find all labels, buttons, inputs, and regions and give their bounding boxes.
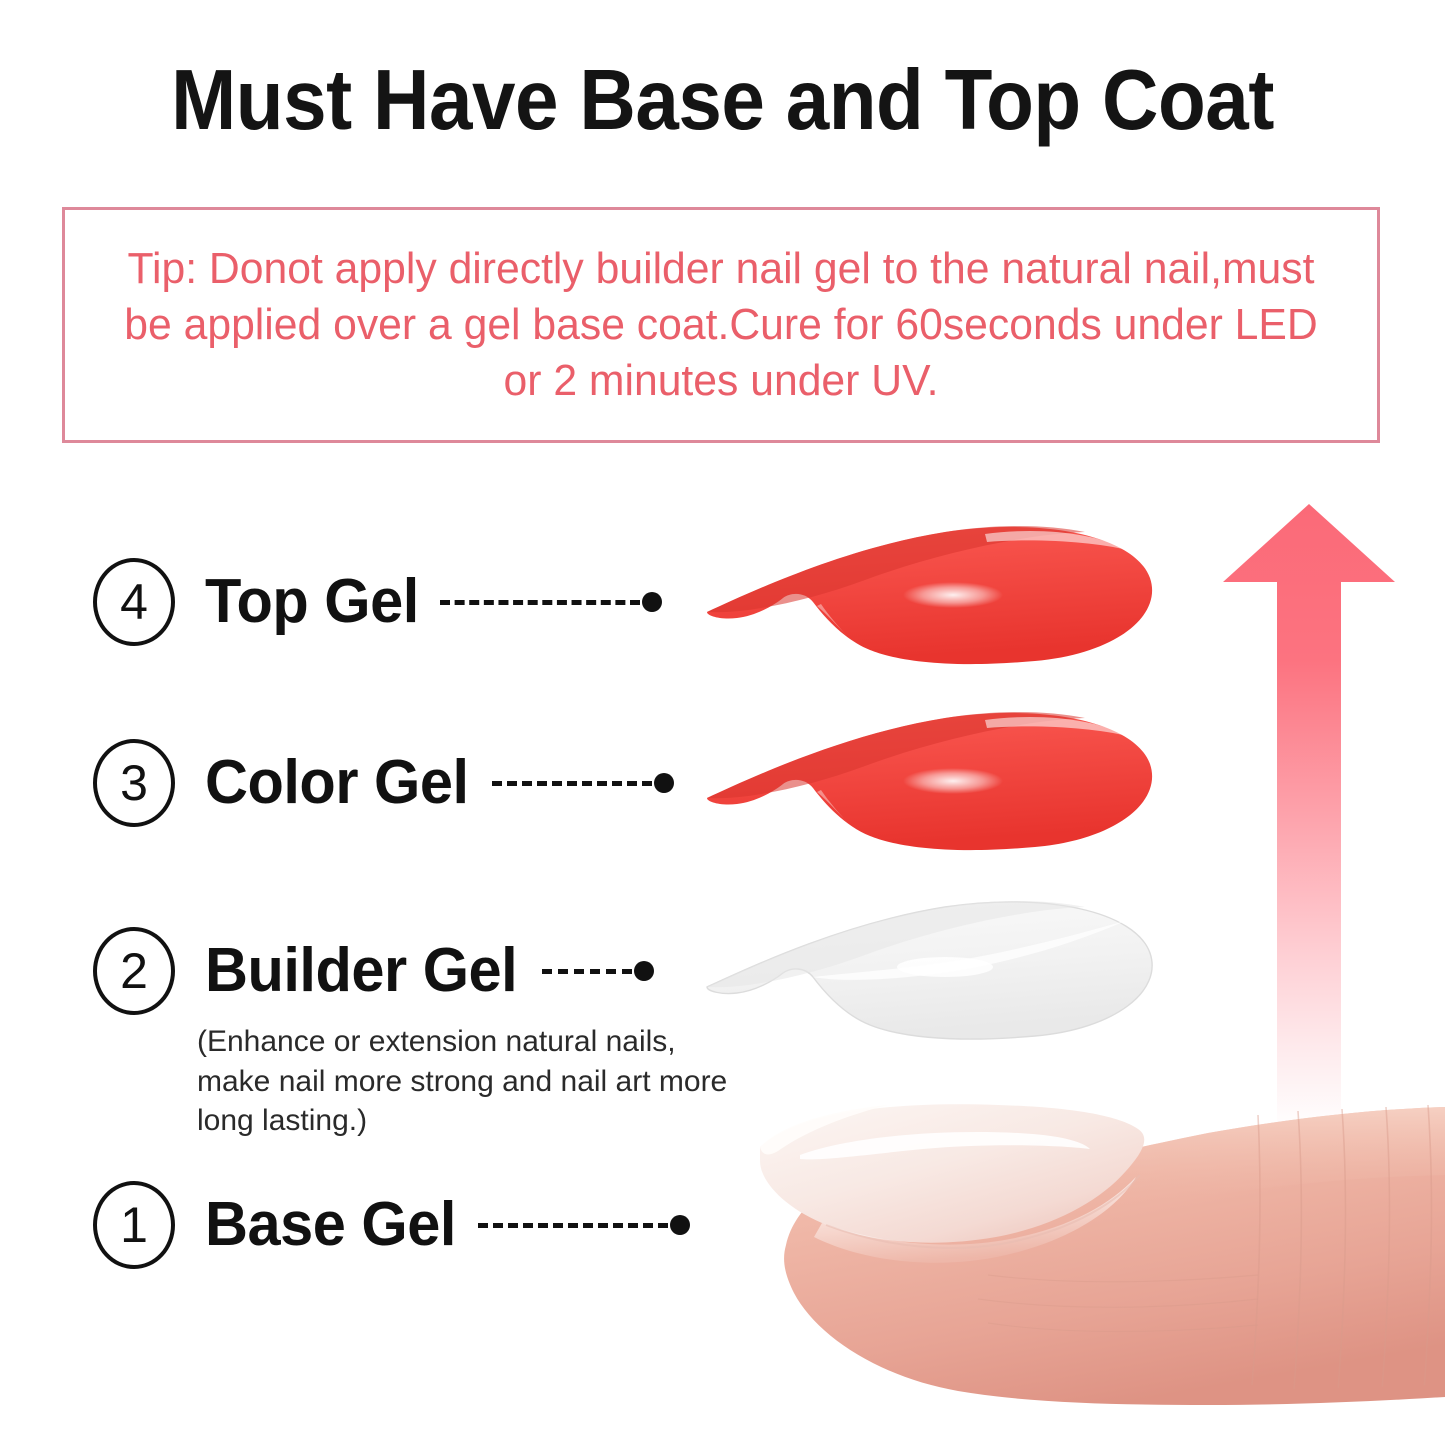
- page-title: Must Have Base and Top Coat: [58, 52, 1387, 150]
- dashed-line-icon: [492, 781, 652, 786]
- leader-connector: [492, 773, 674, 793]
- builder-gel-note: (Enhance or extension natural nails, mak…: [197, 1022, 757, 1141]
- dot-icon: [654, 773, 674, 793]
- step-number-badge: 1: [93, 1181, 175, 1269]
- dashed-line-icon: [542, 969, 632, 974]
- builder-gel-swatch: [695, 895, 1165, 1065]
- step-number-badge: 4: [93, 558, 175, 646]
- finger-with-natural-nail-image: [738, 1085, 1445, 1445]
- upward-arrow-icon: [1221, 500, 1397, 1130]
- step-number-badge: 3: [93, 739, 175, 827]
- dot-icon: [634, 961, 654, 981]
- step-label: Color Gel: [205, 752, 469, 814]
- step-row-base-gel: 1 Base Gel: [93, 1179, 690, 1271]
- tip-text: Tip: Donot apply directly builder nail g…: [85, 241, 1358, 410]
- leader-connector: [440, 592, 662, 612]
- tip-box: Tip: Donot apply directly builder nail g…: [62, 207, 1380, 443]
- leader-connector: [542, 961, 654, 981]
- step-row-color-gel: 3 Color Gel: [93, 737, 674, 829]
- step-label: Top Gel: [205, 571, 419, 633]
- step-row-top-gel: 4 Top Gel: [93, 556, 662, 648]
- dot-icon: [642, 592, 662, 612]
- dot-icon: [670, 1215, 690, 1235]
- step-label: Builder Gel: [205, 940, 517, 1002]
- dashed-line-icon: [478, 1223, 668, 1228]
- leader-connector: [478, 1215, 690, 1235]
- step-number-badge: 2: [93, 927, 175, 1015]
- step-label: Base Gel: [205, 1194, 456, 1256]
- infographic-page: Must Have Base and Top Coat Tip: Donot a…: [0, 0, 1445, 1445]
- color-gel-swatch: [695, 702, 1165, 872]
- top-gel-swatch: [695, 520, 1165, 690]
- dashed-line-icon: [440, 600, 640, 605]
- step-row-builder-gel: 2 Builder Gel: [93, 925, 654, 1017]
